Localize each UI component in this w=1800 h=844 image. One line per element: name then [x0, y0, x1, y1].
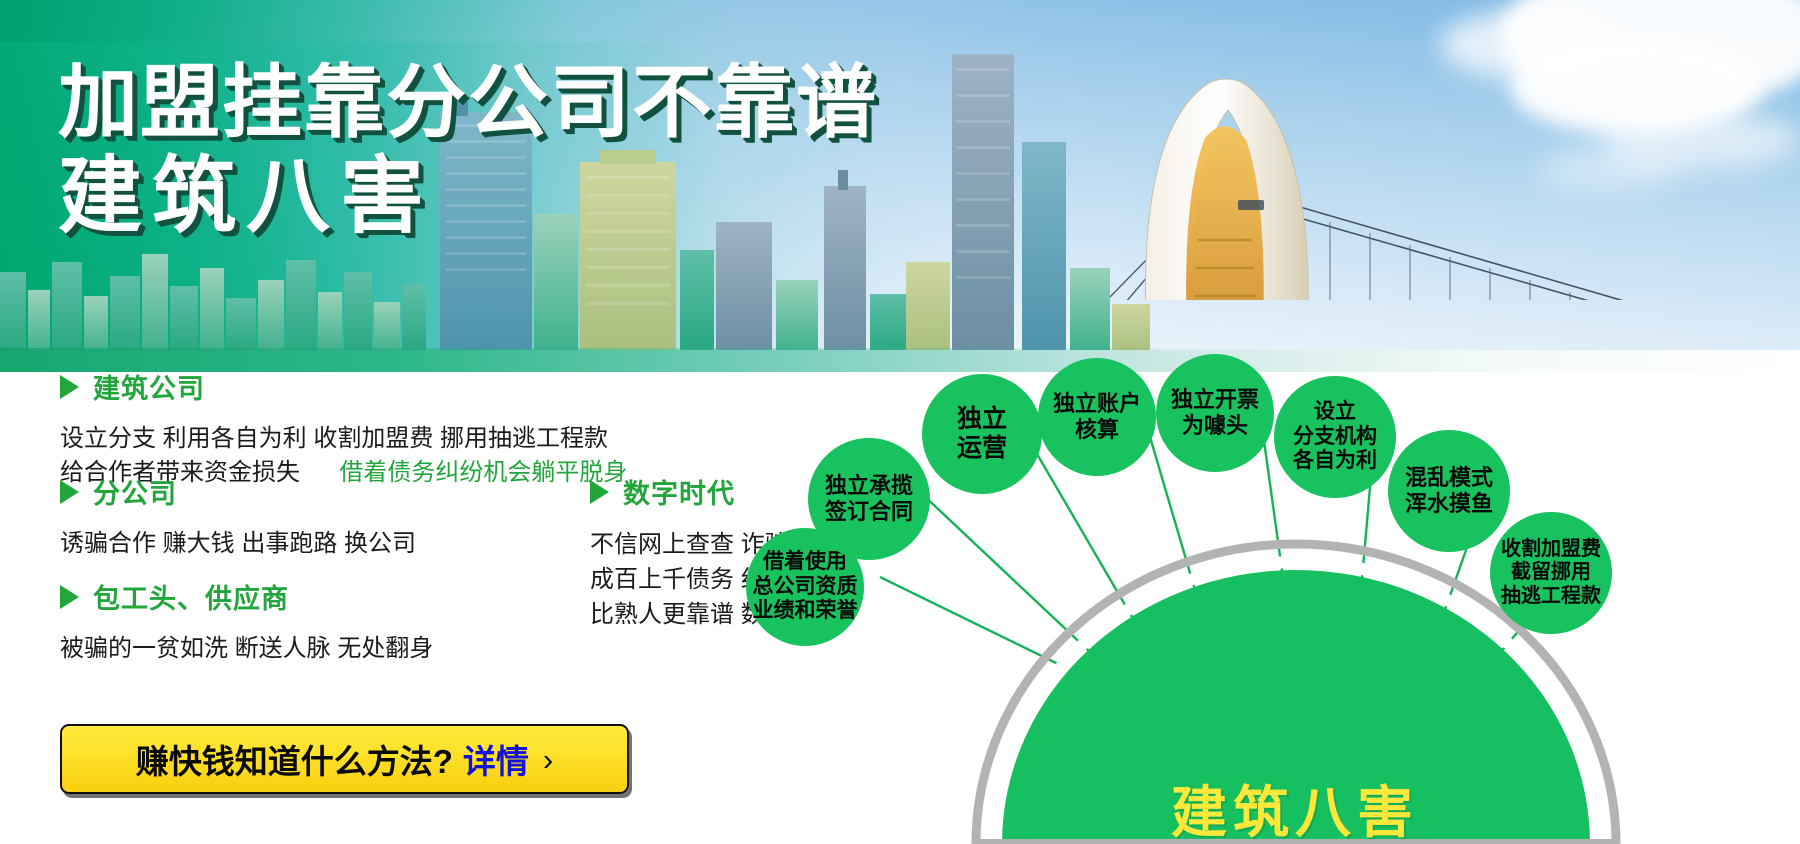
bubble-line: 运营	[957, 434, 1007, 463]
bubble-harvest-franchise-fee[interactable]: 收割加盟费 截留挪用 抽逃工程款	[1490, 512, 1612, 634]
bubble-line: 浑水摸鱼	[1405, 491, 1493, 517]
bubble-independent-operation[interactable]: 独立 运营	[922, 374, 1042, 494]
triangle-bullet-icon	[60, 585, 79, 609]
chevron-right-icon: ›	[543, 744, 553, 775]
section-line: 被骗的一贫如洗 断送人脉 无处翻身	[60, 632, 433, 666]
section-title: 分公司	[93, 472, 177, 511]
cta-detail-link[interactable]: 详情	[463, 735, 529, 783]
section-line: 设立分支 利用各自为利 收割加盟费 挪用抽逃工程款	[60, 422, 627, 456]
poster-root: 加盟挂靠分公司不靠谱 建筑八害 建筑公司 设立分支 利用各自为利 收割加盟费 挪…	[0, 0, 1800, 844]
bubble-independent-contracting[interactable]: 独立承揽 签订合同	[808, 438, 930, 560]
bubble-line: 核算	[1053, 417, 1141, 443]
left-content-column: 建筑公司 设立分支 利用各自为利 收割加盟费 挪用抽逃工程款 给合作者带来资金损…	[0, 372, 790, 844]
bubble-line: 总公司资质	[753, 575, 858, 599]
bubble-setup-branch[interactable]: 设立 分支机构 各自为利	[1274, 376, 1396, 498]
bubble-line: 独立账户	[1053, 391, 1141, 417]
section-body: 诱骗合作 赚大钱 出事跑路 换公司	[60, 527, 416, 561]
bubble-line: 业绩和荣誉	[753, 599, 858, 623]
bubble-line: 混乱模式	[1405, 465, 1493, 491]
section-contractor-supplier: 包工头、供应商 被骗的一贫如洗 断送人脉 无处翻身	[60, 577, 433, 666]
bubble-line: 独立承揽	[825, 473, 913, 499]
section-branch-company: 分公司 诱骗合作 赚大钱 出事跑路 换公司	[60, 472, 416, 561]
bubble-independent-invoicing[interactable]: 独立开票 为噱头	[1156, 354, 1274, 472]
eight-harms-diagram: 借着使用 总公司资质 业绩和荣誉 独立承揽 签订合同 独立 运营 独立账户 核算	[790, 372, 1800, 844]
hero-title-line-2: 建筑八害	[58, 154, 878, 240]
cta-main-label: 赚快钱知道什么方法?	[136, 735, 453, 783]
section-title: 数字时代	[623, 472, 735, 511]
bubble-chaotic-mode[interactable]: 混乱模式 浑水摸鱼	[1388, 430, 1510, 552]
bubble-line: 借着使用	[753, 550, 858, 574]
triangle-bullet-icon	[60, 480, 79, 504]
dome-title: 建筑八害	[980, 768, 1610, 844]
section-title: 包工头、供应商	[93, 577, 289, 616]
hero-title-line-1: 加盟挂靠分公司不靠谱	[58, 62, 878, 144]
triangle-bullet-icon	[590, 480, 609, 504]
hero-title: 加盟挂靠分公司不靠谱 建筑八害	[58, 62, 878, 239]
section-title: 建筑公司	[93, 367, 205, 406]
cta-button[interactable]: 赚快钱知道什么方法? 详情 ›	[60, 724, 629, 794]
bubble-line: 各自为利	[1293, 449, 1377, 473]
triangle-bullet-icon	[60, 375, 79, 399]
bubble-line: 独立	[957, 405, 1007, 434]
bubble-line: 截留挪用	[1501, 561, 1601, 584]
bubble-line: 签订合同	[825, 499, 913, 525]
bubble-line: 分支机构	[1293, 425, 1377, 449]
bubble-line: 设立	[1293, 400, 1377, 424]
bubble-independent-account[interactable]: 独立账户 核算	[1038, 358, 1156, 476]
bubble-line: 为噱头	[1171, 413, 1259, 439]
section-line: 诱骗合作 赚大钱 出事跑路 换公司	[60, 527, 416, 561]
bubble-line: 收割加盟费	[1501, 538, 1601, 561]
section-header: 建筑公司	[60, 367, 627, 406]
section-header: 分公司	[60, 472, 416, 511]
section-header: 包工头、供应商	[60, 577, 433, 616]
bubble-line: 独立开票	[1171, 387, 1259, 413]
section-body: 被骗的一贫如洗 断送人脉 无处翻身	[60, 632, 433, 666]
bubble-line: 抽逃工程款	[1501, 585, 1601, 608]
hero-banner: 加盟挂靠分公司不靠谱 建筑八害	[0, 0, 1800, 372]
